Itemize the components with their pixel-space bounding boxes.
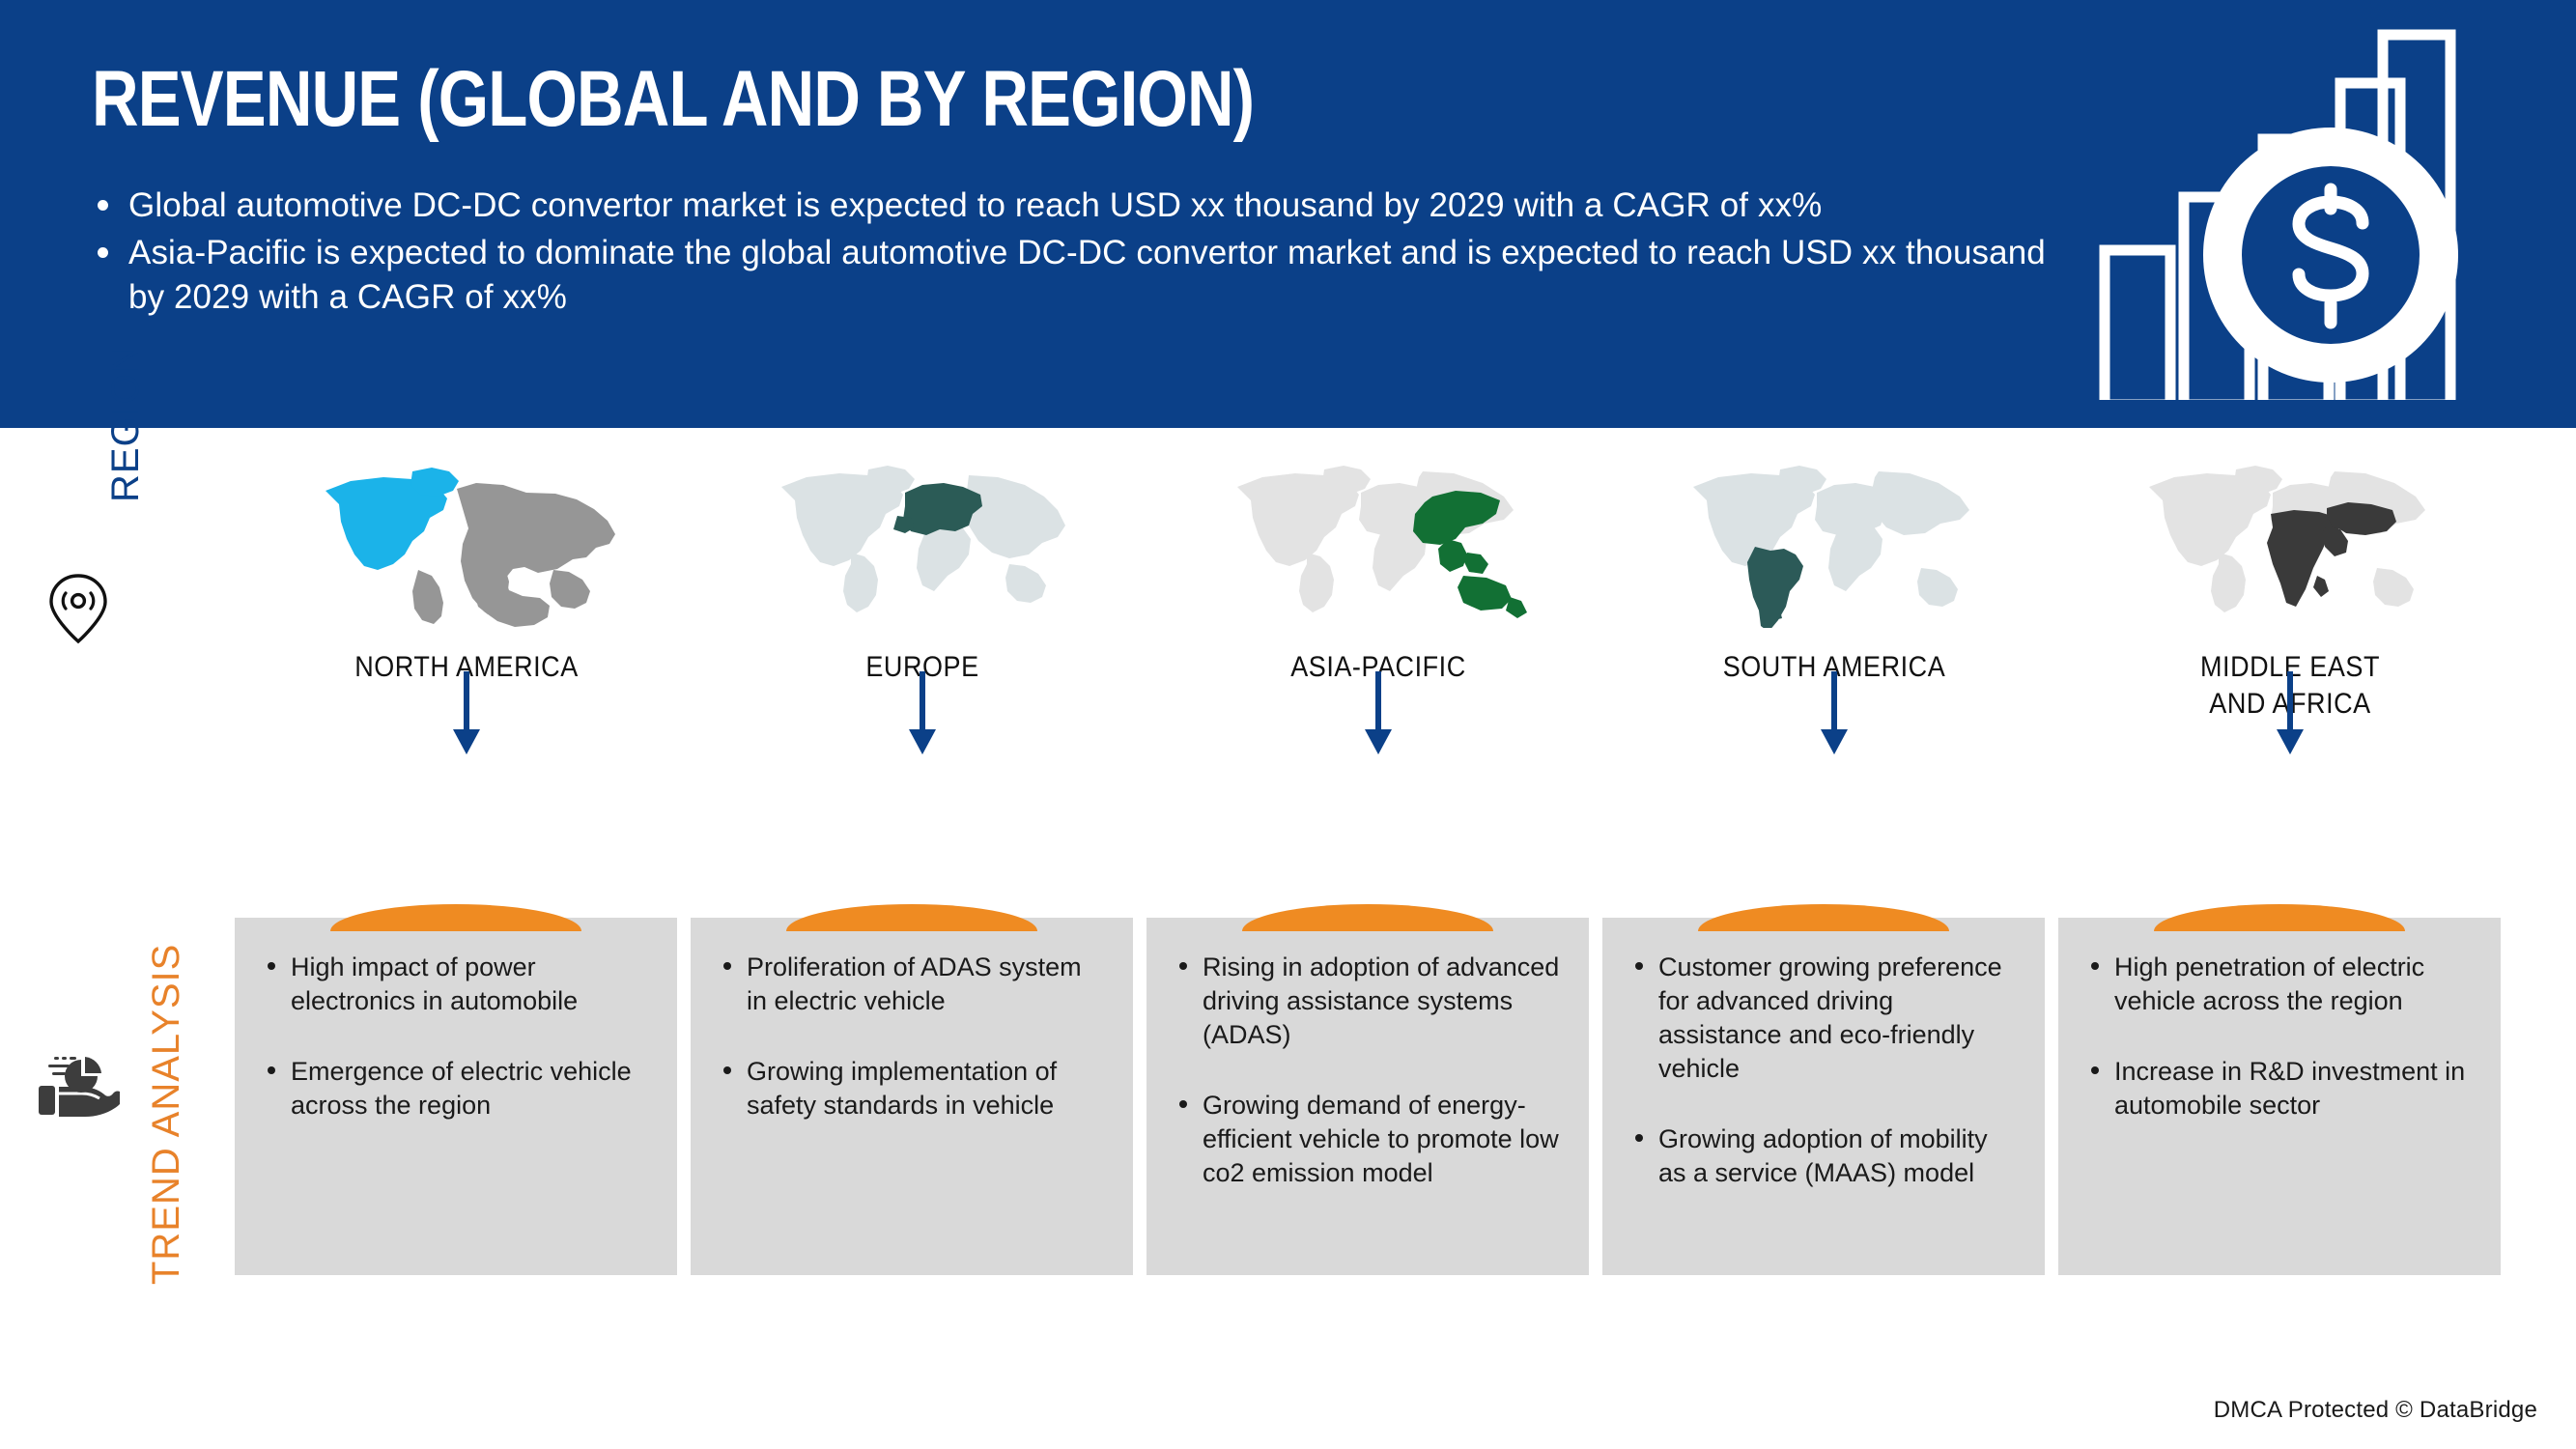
trend-bullet: Growing implementation of safety standar… xyxy=(720,1055,1108,1122)
world-map-asia-pacific-highlighted xyxy=(1224,454,1533,628)
footer-copyright: DMCA Protected © DataBridge xyxy=(2214,1397,2537,1424)
region-column-middle-east-africa: MIDDLE EAST AND AFRICA xyxy=(2058,454,2522,724)
region-rail-label: REGION xyxy=(104,251,162,502)
location-pin-icon xyxy=(46,572,110,645)
trend-bullet-list: High penetration of electric vehicle acr… xyxy=(2058,918,2501,1122)
down-arrow-icon xyxy=(2273,671,2307,758)
world-map-middle-east-africa-highlighted xyxy=(2136,454,2445,628)
trend-bullet: Proliferation of ADAS system in electric… xyxy=(720,951,1108,1018)
region-column-europe: EUROPE xyxy=(691,454,1154,686)
bar-chart-dollar-icon xyxy=(2091,14,2477,400)
page-title: REVENUE (GLOBAL AND BY REGION) xyxy=(92,60,1254,139)
region-column-north-america: NORTH AMERICA xyxy=(235,454,698,686)
trend-card-north-america: High impact of power electronics in auto… xyxy=(235,918,677,1275)
trend-bullet: Growing demand of energy-efficient vehic… xyxy=(1175,1089,1564,1190)
trend-bullet: Rising in adoption of advanced driving a… xyxy=(1175,951,1564,1052)
down-arrow-icon xyxy=(905,671,940,758)
infographic-page: REVENUE (GLOBAL AND BY REGION) Global au… xyxy=(0,0,2576,1449)
header-banner: REVENUE (GLOBAL AND BY REGION) Global au… xyxy=(0,0,2576,428)
world-map-north-america-highlighted xyxy=(312,454,621,628)
trend-bullet: High impact of power electronics in auto… xyxy=(264,951,652,1018)
trend-card-europe: Proliferation of ADAS system in electric… xyxy=(691,918,1133,1275)
region-column-asia-pacific: ASIA-PACIFIC xyxy=(1146,454,1610,686)
region-column-south-america: SOUTH AMERICA xyxy=(1602,454,2066,686)
trend-bullet-list: Customer growing preference for advanced… xyxy=(1602,918,2045,1191)
trend-bullet-list: High impact of power electronics in auto… xyxy=(235,918,677,1122)
trend-bullet: Emergence of electric vehicle across the… xyxy=(264,1055,652,1122)
header-bullet: Asia-Pacific is expected to dominate the… xyxy=(92,231,2081,321)
trend-card-south-america: Customer growing preference for advanced… xyxy=(1602,918,2045,1275)
down-arrow-icon xyxy=(1817,671,1852,758)
trend-bullet: Growing adoption of mobility as a servic… xyxy=(1631,1122,2020,1190)
trend-card-asia-pacific: Rising in adoption of advanced driving a… xyxy=(1146,918,1589,1275)
trend-analysis-cards: High impact of power electronics in auto… xyxy=(235,918,2514,1323)
trend-card-middle-east-africa: High penetration of electric vehicle acr… xyxy=(2058,918,2501,1275)
trend-bullet: High penetration of electric vehicle acr… xyxy=(2087,951,2476,1018)
hand-holding-pie-chart-icon xyxy=(37,1043,120,1119)
trend-bullet: Customer growing preference for advanced… xyxy=(1631,951,2020,1086)
header-bullet: Global automotive DC-DC convertor market… xyxy=(92,184,2081,229)
header-bullet-list: Global automotive DC-DC convertor market… xyxy=(92,184,2081,323)
trend-rail-label: TREND ANALYSIS xyxy=(145,879,203,1285)
down-arrow-icon xyxy=(1361,671,1396,758)
trend-bullet: Increase in R&D investment in automobile… xyxy=(2087,1055,2476,1122)
trend-bullet-list: Proliferation of ADAS system in electric… xyxy=(691,918,1133,1122)
world-map-south-america-highlighted xyxy=(1680,454,1989,628)
down-arrow-icon xyxy=(449,671,484,758)
trend-bullet-list: Rising in adoption of advanced driving a… xyxy=(1146,918,1589,1191)
world-map-europe-highlighted xyxy=(768,454,1077,628)
